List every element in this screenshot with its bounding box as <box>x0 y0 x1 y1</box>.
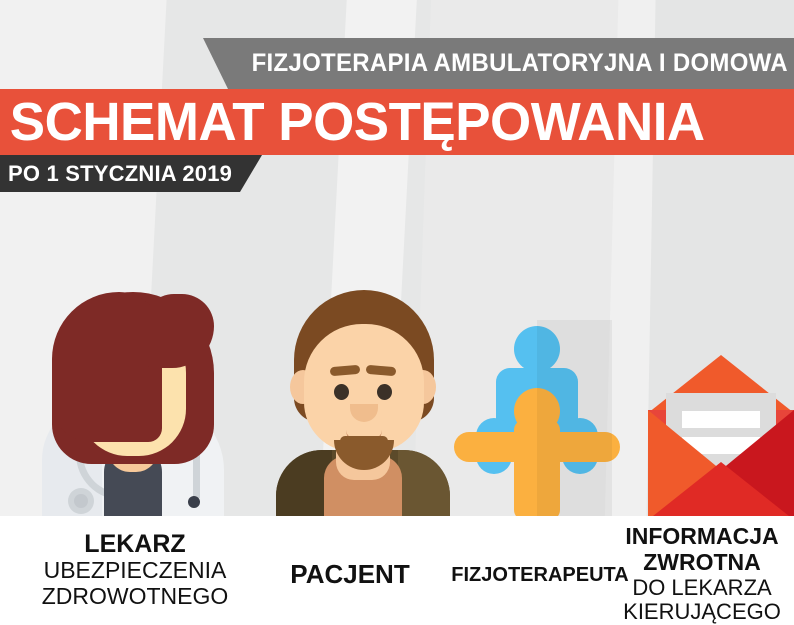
bearded-man-illustration <box>268 290 458 520</box>
female-doctor-illustration <box>38 290 228 520</box>
caption-doctor-line-2: UBEZPIECZENIA <box>10 558 260 584</box>
caption-doctor-line-1: LEKARZ <box>10 530 260 558</box>
caption-patient: PACJENT <box>250 560 450 589</box>
page-title: SCHEMAT POSTĘPOWANIA <box>0 95 705 149</box>
patient-jacket-right-shade <box>398 450 450 520</box>
infographic-root: FIZJOTERAPIA AMBULATORYJNA I DOMOWA SCHE… <box>0 0 794 625</box>
stethoscope-chestpiece-icon <box>68 488 94 514</box>
caption-doctor: LEKARZ UBEZPIECZENIA ZDROWOTNEGO <box>10 530 260 610</box>
open-envelope-letter-icon <box>648 355 794 520</box>
caption-feedback-line-4: KIERUJĄCEGO <box>610 600 794 625</box>
caption-feedback-line-2: ZWROTNA <box>610 550 794 576</box>
patient-eye-left <box>334 384 349 400</box>
caption-feedback-line-3: DO LEKARZA <box>610 576 794 601</box>
envelope-bottom-fold <box>648 462 794 520</box>
header-subtitle-bar: PO 1 STYCZNIA 2019 <box>0 155 262 192</box>
header-subtitle-text: PO 1 STYCZNIA 2019 <box>0 161 232 187</box>
therapy-icon-shading <box>537 320 612 520</box>
two-person-therapy-icon <box>462 320 612 520</box>
patient-eye-right <box>377 384 392 400</box>
caption-feedback-line-1: INFORMACJA <box>610 524 794 550</box>
header-kicker-text: FIZJOTERAPIA AMBULATORYJNA I DOMOWA <box>252 49 794 78</box>
caption-doctor-line-3: ZDROWOTNEGO <box>10 584 260 610</box>
figures-row <box>0 195 794 520</box>
caption-patient-line-1: PACJENT <box>250 560 450 589</box>
caption-feedback: INFORMACJA ZWROTNA DO LEKARZA KIERUJĄCEG… <box>610 524 794 625</box>
header-title-bar: SCHEMAT POSTĘPOWANIA <box>0 89 794 155</box>
caption-band: LEKARZ UBEZPIECZENIA ZDROWOTNEGO PACJENT… <box>0 516 794 625</box>
stethoscope-earpiece-2 <box>188 496 200 508</box>
